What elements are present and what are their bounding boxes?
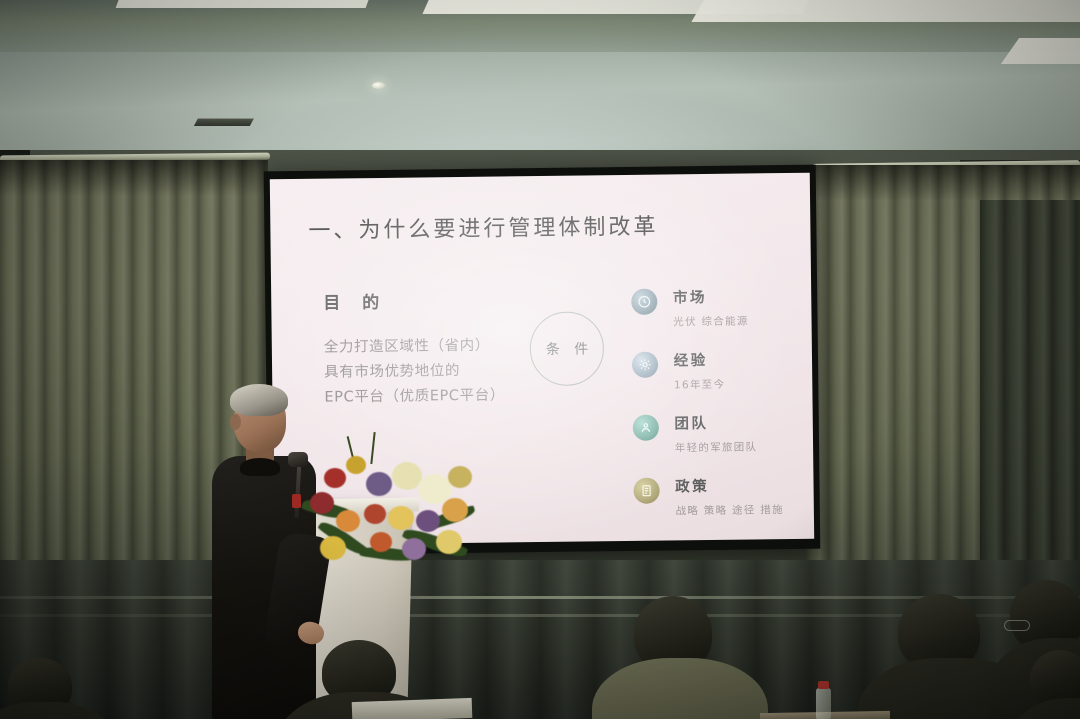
document-icon bbox=[633, 478, 659, 504]
skylight-panel bbox=[116, 0, 375, 8]
microphone-head bbox=[288, 452, 308, 467]
audience-shoulders bbox=[0, 702, 120, 719]
flower-bloom bbox=[320, 536, 346, 560]
slide-title: 一、为什么要进行管理体制改革 bbox=[308, 207, 780, 245]
water-bottle bbox=[816, 688, 831, 719]
skylight-panel bbox=[691, 0, 1080, 22]
flower-bloom bbox=[370, 532, 392, 552]
feature-text: 团队 年轻的军旅团队 bbox=[674, 411, 757, 455]
audience bbox=[0, 580, 1080, 719]
feature-title: 政策 bbox=[675, 474, 784, 496]
microphone-base-light bbox=[292, 494, 301, 508]
flower-bloom bbox=[324, 468, 346, 488]
feature-subtitle: 战略 策略 途径 措施 bbox=[675, 502, 783, 518]
water-bottle-cap bbox=[818, 681, 829, 689]
ceiling-downlight bbox=[372, 82, 385, 89]
eyeglasses-icon bbox=[1004, 620, 1030, 631]
flower-bloom bbox=[436, 530, 462, 554]
feature-title: 团队 bbox=[674, 411, 757, 433]
feature-item-team: 团队 年轻的军旅团队 bbox=[632, 411, 783, 456]
speaker-collar bbox=[240, 458, 280, 476]
speaker-ear bbox=[230, 414, 241, 430]
condition-circle: 条 件 bbox=[530, 311, 605, 386]
condition-circle-label: 条 件 bbox=[546, 338, 594, 359]
feature-subtitle: 光伏 综合能源 bbox=[673, 313, 749, 329]
flower-bloom bbox=[442, 498, 468, 522]
feature-list: 市场 光伏 综合能源 bbox=[625, 283, 784, 539]
feature-title: 经验 bbox=[674, 349, 726, 371]
feature-item-experience: 经验 16年至今 bbox=[632, 348, 783, 393]
flower-bloom bbox=[336, 510, 360, 532]
clock-icon bbox=[631, 289, 657, 315]
flower-bloom bbox=[364, 504, 386, 524]
feature-item-market: 市场 光伏 综合能源 bbox=[631, 285, 782, 330]
ceiling-air-vent bbox=[194, 118, 254, 126]
flower-bloom bbox=[346, 456, 366, 474]
gear-icon bbox=[632, 352, 658, 378]
feature-text: 市场 光伏 综合能源 bbox=[673, 285, 749, 329]
feature-subtitle: 年轻的军旅团队 bbox=[675, 439, 758, 455]
feature-subtitle: 16年至今 bbox=[674, 377, 726, 393]
feature-title: 市场 bbox=[673, 285, 749, 307]
feature-text: 政策 战略 策略 途径 措施 bbox=[675, 474, 784, 518]
floral-arrangement bbox=[306, 448, 472, 572]
flower-bloom bbox=[448, 466, 472, 488]
audience-paper-sheet bbox=[352, 698, 473, 719]
curtain-shadow bbox=[0, 160, 268, 196]
curtain-shadow bbox=[806, 165, 1080, 201]
condition-block: 条 件 bbox=[508, 285, 628, 540]
flower-bloom bbox=[310, 492, 334, 514]
flower-bloom bbox=[366, 472, 392, 496]
feature-text: 经验 16年至今 bbox=[674, 349, 726, 393]
flower-bloom bbox=[402, 538, 426, 560]
purpose-line: 全力打造区域性（省内） bbox=[324, 333, 509, 360]
stage-curtain-far-right bbox=[980, 200, 1080, 600]
people-icon bbox=[632, 415, 658, 441]
flower-bloom bbox=[416, 510, 440, 532]
purpose-line: EPC平台（优质EPC平台） bbox=[324, 383, 509, 410]
purpose-line: 具有市场优势地位的 bbox=[324, 358, 509, 385]
speaker-hair bbox=[230, 384, 288, 416]
photo-scene: 一、为什么要进行管理体制改革 目 的 全力打造区域性（省内） 具有市场优势地位的… bbox=[0, 0, 1080, 719]
audience-shoulders bbox=[592, 658, 768, 719]
feature-item-policy: 政策 战略 策略 途径 措施 bbox=[633, 474, 784, 519]
purpose-heading: 目 的 bbox=[323, 286, 508, 313]
flower-bloom bbox=[388, 506, 414, 530]
